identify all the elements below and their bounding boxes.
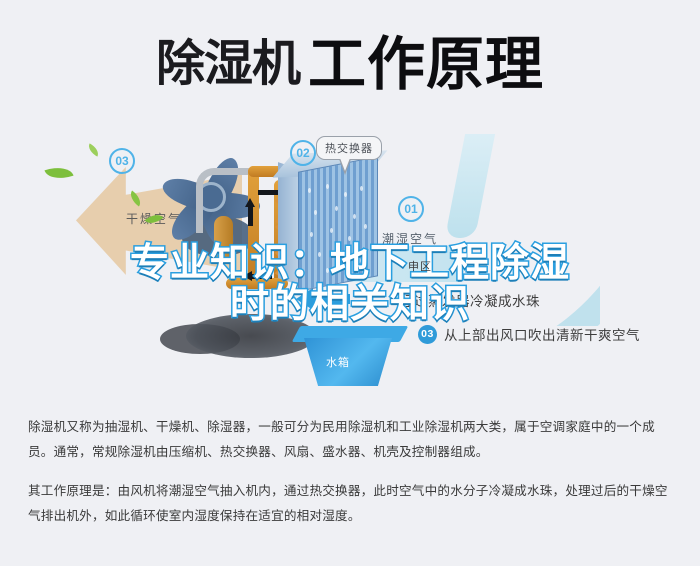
- title-part-two: 工作原理: [308, 17, 544, 101]
- list-item: 02 经过蒸发器冷凝成水珠: [374, 290, 688, 310]
- article-body: 除湿机又称为抽湿机、干燥机、除湿器，一般可分为民用除湿机和工业除湿机两大类，属于…: [28, 414, 676, 542]
- process-legend: 02 经过蒸发器冷凝成水珠 03 从上部出风口吹出清新干爽空气: [418, 290, 688, 358]
- moist-air-label: 潮湿空气: [382, 230, 438, 247]
- heat-exchanger-icon: [272, 150, 392, 296]
- copper-pipe: [248, 166, 259, 288]
- body-paragraph-1: 除湿机又称为抽湿机、干燥机、除湿器，一般可分为民用除湿机和工业除湿机两大类，属于…: [28, 414, 676, 464]
- infographic-page: 除湿机 工作原理 干燥空气: [0, 0, 700, 566]
- water-tank-icon: 水箱: [296, 326, 404, 392]
- title-part-one: 除湿机: [156, 24, 300, 95]
- leaf-icon: [44, 162, 73, 183]
- body-paragraph-2: 其工作原理是：由风机将潮湿空气抽入机内，通过热交换器，此时空气中的水分子冷凝成水…: [28, 478, 676, 528]
- small-watermark: 申区: [408, 258, 432, 274]
- step-badge-02: 02: [290, 140, 316, 166]
- moist-air-sweep-tail: [445, 134, 495, 238]
- step-badge-01: 01: [398, 196, 424, 222]
- legend-text: 从上部出风口吹出清新干爽空气: [444, 324, 640, 344]
- legend-text: 经过蒸发器冷凝成水珠: [400, 290, 540, 310]
- flow-arrow-left-icon: [243, 271, 252, 281]
- water-tank-label: 水箱: [326, 354, 350, 370]
- list-item: 03 从上部出风口吹出清新干爽空气: [418, 324, 688, 344]
- page-title: 除湿机 工作原理: [0, 22, 700, 96]
- condensation-droplets: [302, 180, 372, 276]
- leaf-icon: [86, 143, 101, 156]
- flow-arrow-stem: [248, 206, 253, 226]
- legend-number: 03: [418, 325, 437, 344]
- flow-arrow-stem: [252, 274, 272, 279]
- step-badge-03: 03: [109, 148, 135, 174]
- heat-exchanger-callout: 热交换器: [316, 136, 382, 160]
- compressor-body: [214, 216, 233, 264]
- flow-arrow-up-icon: [245, 198, 255, 207]
